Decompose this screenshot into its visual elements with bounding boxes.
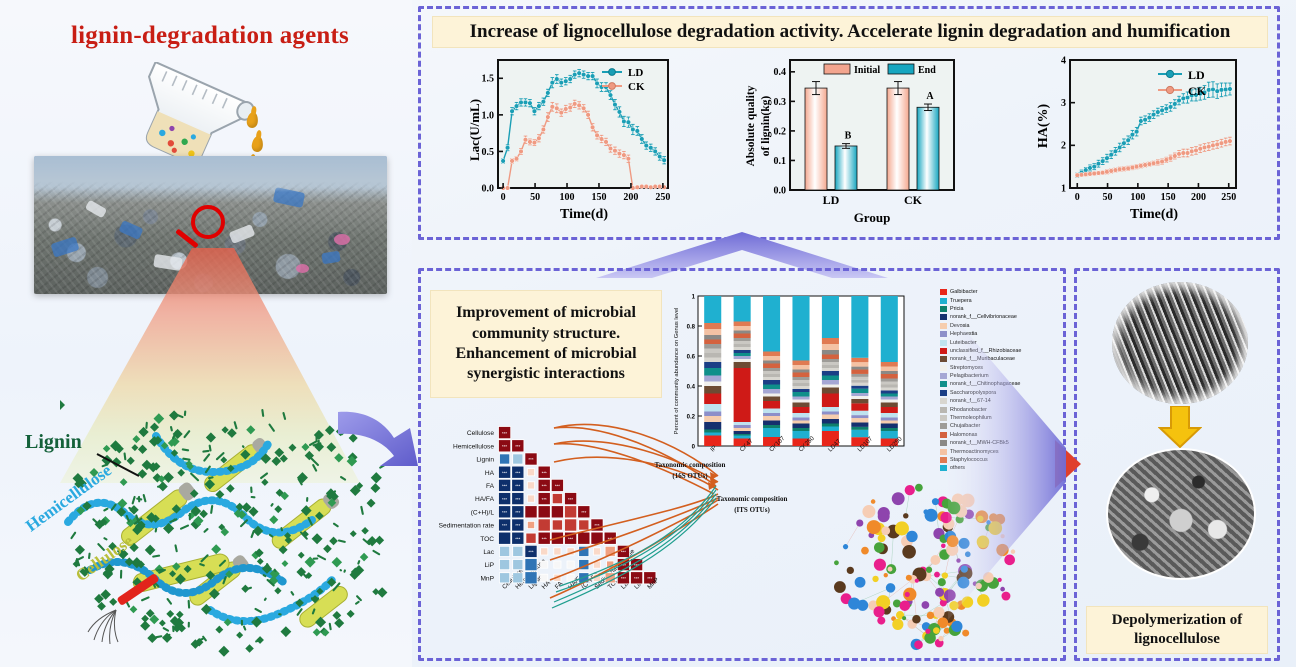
middle-banner-line3: Enhancement of microbial bbox=[455, 344, 636, 364]
svg-text:***: *** bbox=[515, 523, 520, 528]
svg-text:CK: CK bbox=[628, 81, 645, 93]
svg-text:0.8: 0.8 bbox=[687, 325, 696, 331]
chart-ha-xlabel: Time(d) bbox=[1130, 207, 1178, 222]
svg-text:FA: FA bbox=[486, 483, 495, 490]
svg-text:***: *** bbox=[515, 497, 520, 502]
svg-text:100: 100 bbox=[560, 192, 575, 203]
legend-swatch bbox=[940, 440, 947, 446]
svg-text:50: 50 bbox=[530, 192, 540, 203]
flow-arrow-wedge-right bbox=[948, 300, 1066, 630]
genus-stacked-barchart: 00.20.40.60.81IPCK47CK107CK250LD47LD107L… bbox=[668, 288, 936, 488]
svg-text:0.0: 0.0 bbox=[482, 183, 495, 194]
svg-text:Percent of community abundance: Percent of community abundance on Genus … bbox=[674, 308, 680, 435]
svg-text:Lac: Lac bbox=[483, 549, 494, 556]
caption-its: Taxonomic composition (ITS OTUs) bbox=[700, 494, 804, 516]
svg-text:0.2: 0.2 bbox=[687, 415, 696, 421]
legend-swatch bbox=[940, 432, 947, 438]
chart-ha-svg: 1234 050100150200250 HA(%) Time(d) LD CK bbox=[1030, 56, 1245, 226]
chart-humic-acid: 1234 050100150200250 HA(%) Time(d) LD CK bbox=[1030, 56, 1245, 226]
svg-text:LiP: LiP bbox=[484, 562, 494, 569]
svg-text:Sedimentation rate: Sedimentation rate bbox=[439, 523, 495, 530]
caption-its-line2: (ITS OTUs) bbox=[700, 505, 804, 516]
label-lignin: Lignin bbox=[25, 431, 82, 454]
svg-text:0.5: 0.5 bbox=[482, 147, 495, 158]
chart-bar-legend: Initial End bbox=[824, 64, 936, 76]
svg-text:1: 1 bbox=[1061, 183, 1066, 194]
svg-text:0.2: 0.2 bbox=[774, 126, 787, 137]
legend-swatch bbox=[940, 381, 947, 387]
svg-text:***: *** bbox=[502, 444, 507, 449]
caption-16s: Taxonomic composition (16S OTUs) bbox=[640, 460, 740, 482]
down-arrow-icon bbox=[1158, 406, 1202, 448]
middle-banner-line4: synergistic interactions bbox=[455, 364, 636, 384]
svg-text:***: *** bbox=[528, 457, 533, 462]
legend-swatch bbox=[940, 390, 947, 396]
svg-text:LD: LD bbox=[628, 67, 643, 79]
svg-text:CK: CK bbox=[1188, 84, 1207, 98]
middle-banner: Improvement of microbial community struc… bbox=[430, 290, 662, 398]
chart-lac-svg: 0.00.51.01.5 050100150200250 Lac(U/mL) T… bbox=[462, 56, 677, 226]
svg-text:Lignin: Lignin bbox=[476, 457, 494, 464]
svg-text:1.0: 1.0 bbox=[482, 110, 495, 121]
middle-banner-line2: community structure. bbox=[455, 324, 636, 344]
svg-text:250: 250 bbox=[1221, 192, 1236, 203]
svg-text:A: A bbox=[926, 91, 934, 102]
svg-text:MnP: MnP bbox=[480, 575, 494, 582]
legend-label: Galbibacter bbox=[950, 289, 978, 295]
svg-text:***: *** bbox=[528, 550, 533, 555]
page-title: lignin-degradation agents bbox=[40, 22, 380, 50]
legend-swatch bbox=[940, 423, 947, 429]
svg-text:0: 0 bbox=[1075, 192, 1080, 203]
svg-text:Cellulose: Cellulose bbox=[467, 430, 494, 437]
svg-text:1.5: 1.5 bbox=[482, 74, 495, 85]
legend-swatch bbox=[940, 306, 947, 312]
legend-swatch bbox=[940, 373, 947, 379]
svg-text:***: *** bbox=[502, 484, 507, 489]
right-banner-line1: Depolymerization of bbox=[1112, 611, 1242, 630]
svg-text:200: 200 bbox=[623, 192, 638, 203]
svg-text:CK: CK bbox=[904, 193, 923, 207]
svg-text:***: *** bbox=[502, 431, 507, 436]
legend-swatch bbox=[940, 323, 947, 329]
svg-text:TOC: TOC bbox=[480, 536, 494, 543]
right-banner-line2: lignocellulose bbox=[1112, 630, 1242, 649]
legend-swatch bbox=[940, 356, 947, 362]
svg-text:2: 2 bbox=[1061, 141, 1066, 152]
top-banner: Increase of lignocellulose degradation a… bbox=[432, 16, 1268, 48]
legend-swatch bbox=[940, 298, 947, 304]
graphical-abstract: lignin-degradation agents bbox=[0, 0, 1296, 667]
svg-text:***: *** bbox=[515, 484, 520, 489]
svg-text:0: 0 bbox=[501, 192, 506, 203]
legend-swatch bbox=[940, 340, 947, 346]
svg-text:0: 0 bbox=[692, 445, 696, 451]
svg-text:150: 150 bbox=[1161, 192, 1176, 203]
svg-text:3: 3 bbox=[1061, 98, 1066, 109]
svg-text:250: 250 bbox=[655, 192, 670, 203]
legend-swatch bbox=[940, 407, 947, 413]
svg-text:***: *** bbox=[515, 444, 520, 449]
svg-text:0.6: 0.6 bbox=[687, 355, 696, 361]
svg-text:***: *** bbox=[502, 470, 507, 475]
svg-text:***: *** bbox=[502, 523, 507, 528]
legend-swatch bbox=[940, 314, 947, 320]
svg-text:HA: HA bbox=[485, 470, 495, 477]
caption-its-line1: Taxonomic composition bbox=[700, 494, 804, 505]
svg-text:200: 200 bbox=[1191, 192, 1206, 203]
legend-swatch bbox=[940, 348, 947, 354]
legend-swatch bbox=[940, 449, 947, 455]
left-panel: lignin-degradation agents bbox=[0, 0, 412, 667]
svg-text:50: 50 bbox=[1103, 192, 1113, 203]
chart-lac-activity: 0.00.51.01.5 050100150200250 Lac(U/mL) T… bbox=[462, 56, 677, 226]
svg-text:B: B bbox=[845, 131, 852, 142]
svg-text:0.1: 0.1 bbox=[774, 156, 787, 167]
chart-bar-xlabel: Group bbox=[854, 210, 891, 225]
svg-text:4: 4 bbox=[1061, 56, 1066, 66]
svg-text:0.4: 0.4 bbox=[774, 67, 787, 78]
chart-ha-ylabel: HA(%) bbox=[1036, 104, 1051, 149]
svg-text:Initial: Initial bbox=[854, 65, 880, 76]
svg-text:0.3: 0.3 bbox=[774, 97, 787, 108]
svg-text:LD: LD bbox=[1188, 68, 1205, 82]
svg-text:1: 1 bbox=[692, 295, 696, 301]
chart-bar-svg: BA 0.00.10.20.30.4 LDCK Absolute quality… bbox=[738, 50, 968, 230]
legend-swatch bbox=[940, 415, 947, 421]
legend-swatch bbox=[940, 398, 947, 404]
chart-lac-xlabel: Time(d) bbox=[560, 207, 608, 222]
caption-16s-line1: Taxonomic composition bbox=[640, 460, 740, 471]
svg-text:LD: LD bbox=[823, 193, 840, 207]
legend-swatch bbox=[940, 365, 947, 371]
svg-text:100: 100 bbox=[1130, 192, 1145, 203]
svg-text:Hemicellulose: Hemicellulose bbox=[453, 443, 494, 450]
chart-lac-ylabel: Lac(U/mL) bbox=[467, 99, 482, 161]
chart-bar-ylabel-2: of lignin(kg) bbox=[760, 96, 772, 157]
sem-image-after bbox=[1106, 448, 1256, 580]
flow-arrow-left-to-middle bbox=[336, 404, 422, 490]
brush-bristles bbox=[82, 606, 122, 646]
svg-text:***: *** bbox=[515, 470, 520, 475]
svg-text:0.4: 0.4 bbox=[687, 385, 696, 391]
chart-lignin-quality: BA 0.00.10.20.30.4 LDCK Absolute quality… bbox=[738, 50, 968, 230]
svg-text:HA/FA: HA/FA bbox=[475, 496, 495, 503]
right-banner: Depolymerization of lignocellulose bbox=[1086, 606, 1268, 654]
svg-text:(C+H)/L: (C+H)/L bbox=[471, 509, 495, 516]
legend-swatch bbox=[940, 457, 947, 463]
stacked-bar-svg: 00.20.40.60.81IPCK47CK107CK250LD47LD107L… bbox=[668, 288, 936, 488]
sem-image-before bbox=[1112, 282, 1248, 404]
svg-text:***: *** bbox=[502, 510, 507, 515]
svg-text:End: End bbox=[918, 65, 936, 76]
middle-banner-line1: Improvement of microbial bbox=[455, 303, 636, 323]
magnifier-icon bbox=[191, 205, 225, 239]
chart-bar-ylabel-1: Absolute quality bbox=[745, 85, 757, 166]
svg-text:150: 150 bbox=[591, 192, 606, 203]
legend-swatch bbox=[940, 289, 947, 295]
svg-text:***: *** bbox=[515, 536, 520, 541]
svg-text:***: *** bbox=[502, 497, 507, 502]
legend-swatch bbox=[940, 465, 947, 471]
svg-text:***: *** bbox=[515, 510, 520, 515]
legend-swatch bbox=[940, 331, 947, 337]
caption-16s-line2: (16S OTUs) bbox=[640, 471, 740, 482]
legend-item: Galbibacter bbox=[940, 288, 1060, 296]
svg-text:0.0: 0.0 bbox=[774, 185, 787, 196]
